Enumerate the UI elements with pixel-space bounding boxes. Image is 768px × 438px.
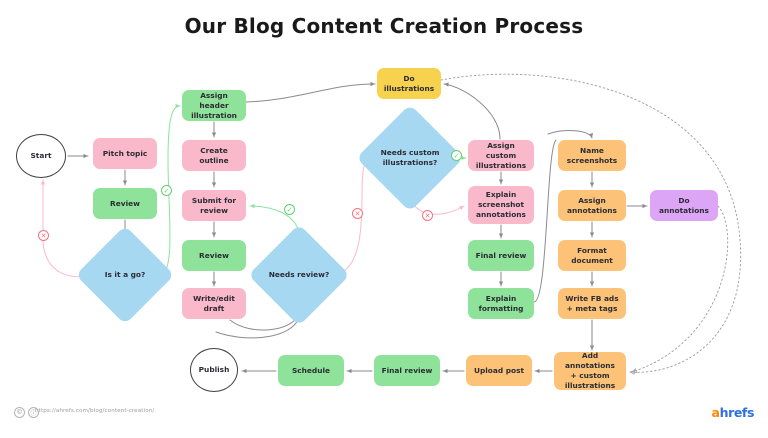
node-explain-screen[interactable]: Explain screenshot annotations xyxy=(468,186,534,224)
node-start-label: Start xyxy=(30,151,51,161)
source-url[interactable]: https://ahrefs.com/blog/content-creation… xyxy=(35,408,154,414)
node-final-review-1-label: Final review xyxy=(476,251,527,261)
badge-needs-custom-no-cross-icon: ✕ xyxy=(352,208,363,219)
node-assign-header[interactable]: Assign header illustration xyxy=(182,90,246,121)
node-explain-format[interactable]: Explain formatting xyxy=(468,288,534,319)
node-write-fb-ads[interactable]: Write FB ads + meta tags xyxy=(558,288,626,319)
node-assign-annot-label: Assign annotations xyxy=(567,196,617,216)
node-do-illustrations-label: Do illustrations xyxy=(384,74,434,94)
page-title: Our Blog Content Creation Process xyxy=(0,14,768,38)
node-pitch-topic[interactable]: Pitch topic xyxy=(93,138,157,169)
node-final-review-1[interactable]: Final review xyxy=(468,240,534,271)
node-final-review-2-label: Final review xyxy=(382,366,433,376)
node-review-2-label: Review xyxy=(199,251,229,261)
node-needs-custom[interactable]: Needs custom illustrations? xyxy=(372,120,448,196)
node-write-edit-draft-label: Write/edit draft xyxy=(193,294,235,314)
node-write-edit-draft[interactable]: Write/edit draft xyxy=(182,288,246,319)
node-explain-screen-label: Explain screenshot annotations xyxy=(476,190,526,220)
node-assign-annot[interactable]: Assign annotations xyxy=(558,190,626,221)
node-name-screenshots-label: Name screenshots xyxy=(567,146,617,166)
node-submit-review[interactable]: Submit for review xyxy=(182,190,246,221)
cc-circle-icon: © xyxy=(14,407,25,418)
badge-needs-review-yes-check-icon: ✓ xyxy=(284,204,295,215)
node-create-outline[interactable]: Create outline xyxy=(182,140,246,171)
node-assign-header-label: Assign header illustration xyxy=(185,91,243,121)
e-isitago-no-start xyxy=(43,180,90,277)
node-do-annotations[interactable]: Do annotations xyxy=(650,190,718,221)
e-tonamescreens xyxy=(548,131,592,138)
e-doannot-dotted-add xyxy=(632,206,728,372)
node-assign-custom[interactable]: Assign custom illustrations xyxy=(468,140,534,171)
node-publish-label: Publish xyxy=(199,365,230,375)
node-write-fb-ads-label: Write FB ads + meta tags xyxy=(565,294,618,314)
node-upload-post[interactable]: Upload post xyxy=(466,355,532,386)
e-assigncustom-doill xyxy=(444,84,500,139)
node-publish[interactable]: Publish xyxy=(190,348,238,392)
node-explain-format-label: Explain formatting xyxy=(479,294,524,314)
node-upload-post-label: Upload post xyxy=(474,366,524,376)
logo-letters-hrefs: hrefs xyxy=(720,405,754,420)
node-needs-review[interactable]: Needs review? xyxy=(263,239,335,311)
e-assignheader-doill xyxy=(246,84,375,102)
node-format-document-label: Format document xyxy=(571,246,613,266)
node-needs-custom-label: Needs custom illustrations? xyxy=(372,148,448,168)
e-explainfmt-namescr xyxy=(534,140,556,302)
node-pitch-topic-label: Pitch topic xyxy=(103,149,148,159)
node-name-screenshots[interactable]: Name screenshots xyxy=(558,140,626,171)
badge-needs-custom-no2-cross-icon: ✕ xyxy=(422,210,433,221)
node-create-outline-label: Create outline xyxy=(185,146,243,166)
flowchart-canvas: Our Blog Content Creation Process StartP… xyxy=(0,0,768,438)
node-review-2[interactable]: Review xyxy=(182,240,246,271)
node-format-document[interactable]: Format document xyxy=(558,240,626,271)
node-add-annotations-label: Add annotations + custom illustrations xyxy=(557,351,623,391)
badge-needs-custom-yes-check-icon: ✓ xyxy=(451,150,462,161)
ahrefs-logo[interactable]: ahrefs xyxy=(712,405,754,420)
node-is-it-a-go-label: Is it a go? xyxy=(90,270,160,280)
node-add-annotations[interactable]: Add annotations + custom illustrations xyxy=(554,352,626,390)
node-review-1[interactable]: Review xyxy=(93,188,157,219)
node-submit-review-label: Submit for review xyxy=(192,196,236,216)
logo-letter-a: a xyxy=(712,405,720,420)
node-review-1-label: Review xyxy=(110,199,140,209)
node-do-annotations-label: Do annotations xyxy=(659,196,709,216)
node-final-review-2[interactable]: Final review xyxy=(374,355,440,386)
badge-is-it-a-go-no-cross-icon: ✕ xyxy=(38,230,49,241)
node-needs-review-label: Needs review? xyxy=(263,270,335,280)
node-do-illustrations[interactable]: Do illustrations xyxy=(377,68,441,99)
node-assign-custom-label: Assign custom illustrations xyxy=(471,141,531,171)
badge-is-it-a-go-yes-check-icon: ✓ xyxy=(161,185,172,196)
node-start[interactable]: Start xyxy=(16,134,66,178)
node-is-it-a-go[interactable]: Is it a go? xyxy=(90,240,160,310)
node-schedule-label: Schedule xyxy=(292,366,330,376)
node-schedule[interactable]: Schedule xyxy=(278,355,344,386)
